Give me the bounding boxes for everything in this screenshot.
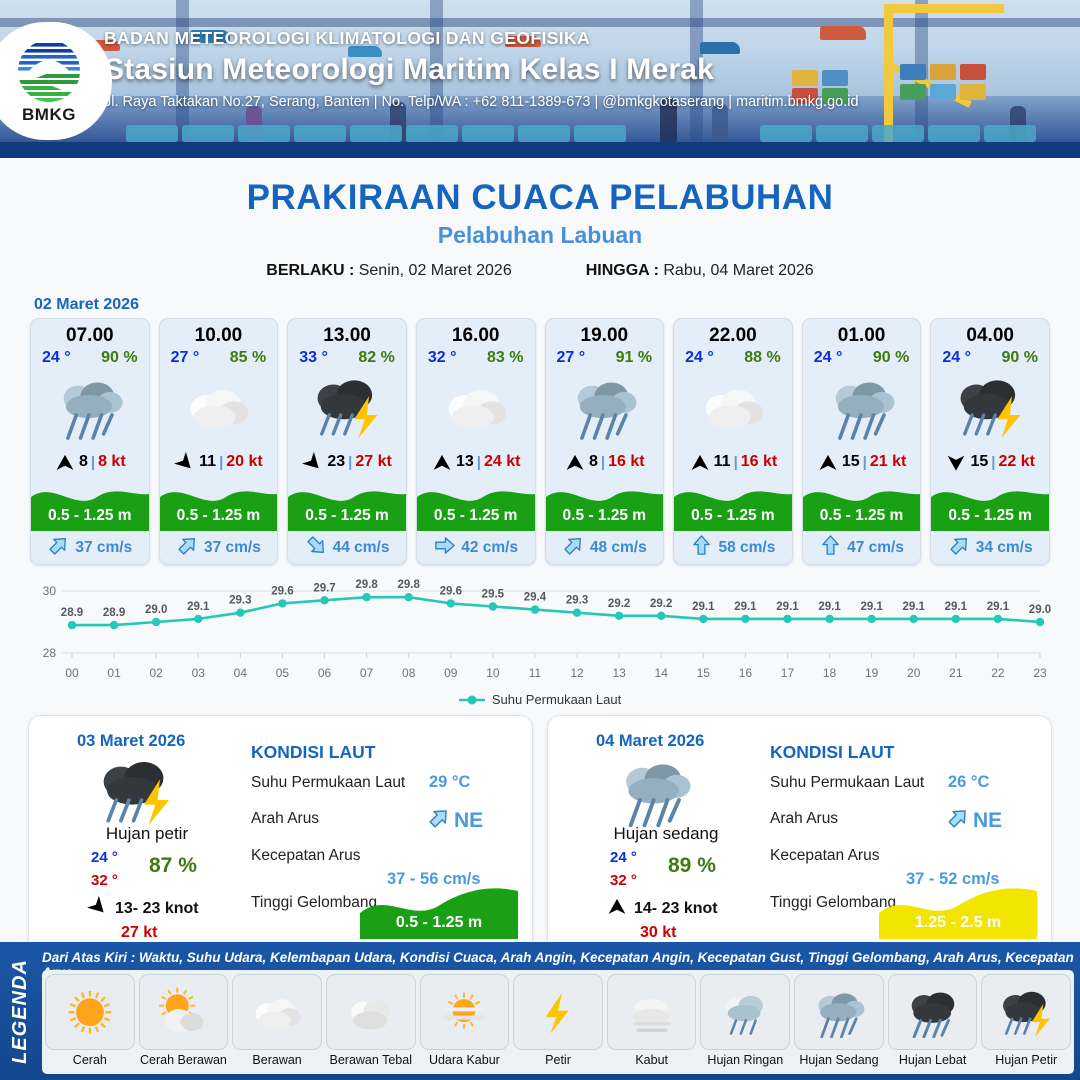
svg-text:28: 28	[43, 646, 57, 660]
svg-text:02: 02	[149, 666, 163, 680]
card-temperature: 27 °	[171, 349, 200, 367]
current-direction-arrow-icon	[948, 534, 971, 562]
sst-chart: 302828.90028.90129.00229.10329.30429.605…	[28, 579, 1052, 689]
svg-text:01: 01	[107, 666, 121, 680]
svg-text:06: 06	[318, 666, 332, 680]
legend-item: Udara Kabur	[420, 974, 510, 1070]
wind-direction-arrow-icon	[606, 898, 628, 921]
header-text-block: BADAN METEOROLOGI KLIMATOLOGI DAN GEOFIS…	[104, 28, 859, 110]
svg-text:29.2: 29.2	[650, 598, 672, 610]
card-humidity: 90 %	[873, 349, 909, 367]
weather-icon-berawan	[160, 367, 278, 447]
weather-icon-berawan	[674, 367, 792, 447]
card-time: 16.00	[417, 319, 535, 347]
card-wind-speed: 23	[327, 453, 345, 471]
day-date: 03 Maret 2026	[77, 732, 185, 751]
legend-icon-berawan	[232, 974, 322, 1050]
day-gust: 30 kt	[640, 924, 676, 942]
card-humidity: 82 %	[358, 349, 394, 367]
legend-icon-hujan-ringan	[700, 974, 790, 1050]
svg-text:29.0: 29.0	[145, 604, 167, 616]
card-time: 07.00	[31, 319, 149, 347]
valid-from-value: Senin, 02 Maret 2026	[359, 262, 512, 279]
legend-icon-cerah	[45, 974, 135, 1050]
wind-direction-arrow-icon	[689, 454, 711, 471]
day-humidity: 89 %	[668, 854, 716, 878]
legend-item-label: Cerah	[73, 1053, 107, 1067]
forecast-card: 01.00 24 ° 90 % 15 |	[802, 318, 922, 565]
svg-text:10: 10	[486, 666, 500, 680]
page-subtitle: Pelabuhan Labuan	[0, 222, 1080, 249]
svg-text:29.6: 29.6	[440, 585, 462, 597]
current-direction-arrow-icon	[427, 806, 451, 835]
svg-text:29.0: 29.0	[1029, 604, 1051, 616]
legend-item: Hujan Lebat	[888, 974, 978, 1070]
svg-text:08: 08	[402, 666, 416, 680]
card-wind-row: 23 | 27 kt	[288, 447, 406, 477]
svg-text:30: 30	[43, 584, 57, 598]
card-separator: |	[863, 454, 867, 471]
svg-text:11: 11	[529, 666, 542, 680]
validity-row: BERLAKU : Senin, 02 Maret 2026 HINGGA : …	[0, 262, 1080, 280]
wind-direction-arrow-icon	[54, 454, 76, 471]
card-current-speed: 44 cm/s	[333, 539, 390, 557]
wave-height-label: Tinggi Gelombang	[770, 894, 896, 912]
legend-side-title: LEGENDA	[4, 946, 36, 1076]
page-header: BMKG BADAN METEOROLOGI KLIMATOLOGI DAN G…	[0, 0, 1080, 158]
day-wave-height: 1.25 - 2.5 m	[879, 914, 1037, 932]
container-box	[960, 84, 986, 100]
legend-item-label: Kabut	[635, 1053, 668, 1067]
card-current-row: 47 cm/s	[803, 531, 921, 564]
card-separator: |	[991, 454, 995, 471]
page-title: PRAKIRAAN CUACA PELABUHAN	[0, 178, 1080, 218]
svg-text:15: 15	[697, 666, 711, 680]
card-temperature: 24 °	[942, 349, 971, 367]
day-condition: Hujan petir	[59, 824, 235, 844]
legend-icon-cerah-berawan	[139, 974, 229, 1050]
forecast-card: 22.00 24 ° 88 % 11 | 16 kt 0.5 - 1.25 m	[673, 318, 793, 565]
current-direction-label: Arah Arus	[770, 810, 838, 828]
svg-text:18: 18	[823, 666, 837, 680]
card-current-row: 42 cm/s	[417, 531, 535, 564]
weather-icon-hujan-sedang	[31, 367, 149, 447]
card-gust: 24 kt	[484, 453, 520, 471]
sea-conditions-title: KONDISI LAUT	[770, 742, 894, 763]
card-wave-block: 0.5 - 1.25 m	[31, 477, 149, 531]
legend-items-panel: Cerah Cerah Berawan Berawa	[42, 970, 1074, 1074]
svg-text:29.2: 29.2	[608, 598, 630, 610]
weather-icon-hujan-sedang	[610, 754, 700, 833]
svg-text:29.3: 29.3	[229, 595, 251, 607]
legend-item-label: Hujan Lebat	[899, 1053, 966, 1067]
card-current-speed: 47 cm/s	[847, 539, 904, 557]
day-temp-max: 32 °	[610, 872, 637, 889]
card-time: 01.00	[803, 319, 921, 347]
legend-icon-hujan-sedang	[794, 974, 884, 1050]
day-temp-min: 24 °	[91, 849, 118, 866]
weather-icon-hujan-petir	[931, 367, 1049, 447]
forecast-date-label: 02 Maret 2026	[34, 296, 1080, 314]
valid-from-label: BERLAKU :	[266, 262, 354, 279]
card-humidity: 85 %	[230, 349, 266, 367]
card-current-speed: 58 cm/s	[718, 539, 775, 557]
daily-summary-card: 03 Maret 2026 Hujan petir 24 ° 32 ° 87 %	[28, 715, 533, 958]
legend-item: Cerah	[45, 974, 135, 1070]
day-gust: 27 kt	[121, 924, 157, 942]
current-direction-arrow-icon	[562, 534, 585, 562]
day-humidity: 87 %	[149, 854, 197, 878]
svg-text:29.8: 29.8	[398, 579, 421, 591]
card-current-speed: 42 cm/s	[461, 539, 518, 557]
container-box	[900, 84, 926, 100]
container-box	[960, 64, 986, 80]
weather-icon-berawan	[417, 367, 535, 447]
card-separator: |	[601, 454, 605, 471]
current-direction-arrow-icon	[305, 534, 328, 562]
card-gust: 16 kt	[608, 453, 644, 471]
legend-item: Cerah Berawan	[139, 974, 229, 1070]
card-wave-block: 0.5 - 1.25 m	[288, 477, 406, 531]
card-wind-speed: 8	[589, 453, 598, 471]
card-wind-speed: 11	[714, 453, 731, 471]
valid-until-label: HINGGA :	[586, 262, 659, 279]
card-wind-row: 13 | 24 kt	[417, 447, 535, 477]
legend-icon-hujan-lebat	[888, 974, 978, 1050]
card-temperature: 27 °	[557, 349, 586, 367]
legend-item: Hujan Petir	[981, 974, 1071, 1070]
bmkg-logo-text: BMKG	[22, 105, 76, 125]
card-wind-row: 8 | 16 kt	[546, 447, 664, 477]
card-gust: 16 kt	[741, 453, 777, 471]
svg-text:07: 07	[360, 666, 374, 680]
current-speed-label: Kecepatan Arus	[251, 847, 360, 865]
card-humidity: 91 %	[616, 349, 652, 367]
wind-direction-arrow-icon	[564, 454, 586, 471]
card-wave-height: 0.5 - 1.25 m	[674, 507, 792, 525]
current-direction-value: NE	[427, 806, 483, 835]
valid-until-value: Rabu, 04 Maret 2026	[663, 262, 813, 279]
svg-text:28.9: 28.9	[61, 607, 83, 619]
card-wind-row: 15 | 22 kt	[931, 447, 1049, 477]
svg-text:09: 09	[444, 666, 458, 680]
current-direction-arrow-icon	[819, 534, 842, 562]
card-wave-height: 0.5 - 1.25 m	[803, 507, 921, 525]
card-wave-height: 0.5 - 1.25 m	[931, 507, 1049, 525]
legend-bar: LEGENDA Dari Atas Kiri : Waktu, Suhu Uda…	[0, 942, 1080, 1080]
card-wind-row: 15 | 21 kt	[803, 447, 921, 477]
card-wind-speed: 11	[199, 453, 216, 471]
weather-icon-hujan-sedang	[803, 367, 921, 447]
svg-text:20: 20	[907, 666, 921, 680]
sea-conditions-title: KONDISI LAUT	[251, 742, 375, 763]
card-wave-block: 0.5 - 1.25 m	[674, 477, 792, 531]
container-box	[930, 84, 956, 100]
card-wave-block: 0.5 - 1.25 m	[931, 477, 1049, 531]
svg-text:17: 17	[781, 666, 795, 680]
card-wind-speed: 8	[79, 453, 88, 471]
day-wave-block: 0.5 - 1.25 m	[360, 883, 518, 939]
card-wave-height: 0.5 - 1.25 m	[31, 507, 149, 525]
current-direction-arrow-icon	[690, 534, 713, 562]
sst-label: Suhu Permukaan Laut	[251, 774, 405, 792]
card-temperature: 33 °	[299, 349, 328, 367]
svg-text:29.1: 29.1	[776, 601, 799, 613]
wind-direction-arrow-icon	[174, 454, 196, 471]
card-wave-block: 0.5 - 1.25 m	[546, 477, 664, 531]
legend-item: Berawan	[232, 974, 322, 1070]
contact-info: Jl. Raya Taktakan No.27, Serang, Banten …	[104, 94, 859, 110]
weather-icon-hujan-petir	[288, 367, 406, 447]
day-wind-range: 13- 23 knot	[115, 900, 199, 918]
card-gust: 8 kt	[98, 453, 126, 471]
weather-icon-hujan-petir	[91, 754, 181, 833]
card-wave-block: 0.5 - 1.25 m	[417, 477, 535, 531]
card-temperature: 32 °	[428, 349, 457, 367]
legend-item-label: Hujan Sedang	[799, 1053, 878, 1067]
card-current-row: 58 cm/s	[674, 531, 792, 564]
card-humidity: 90 %	[101, 349, 137, 367]
forecast-card: 19.00 27 ° 91 % 8 |	[545, 318, 665, 565]
sst-label: Suhu Permukaan Laut	[770, 774, 924, 792]
svg-text:04: 04	[234, 666, 248, 680]
day-wind-row: 14- 23 knot	[606, 898, 718, 921]
svg-text:03: 03	[192, 666, 206, 680]
legend-item: Hujan Sedang	[794, 974, 884, 1070]
legend-item-label: Cerah Berawan	[140, 1053, 227, 1067]
current-direction-arrow-icon	[946, 806, 970, 835]
svg-text:14: 14	[655, 666, 669, 680]
legend-item-label: Berawan Tebal	[330, 1053, 412, 1067]
wave-height-label: Tinggi Gelombang	[251, 894, 377, 912]
svg-text:29.7: 29.7	[313, 582, 335, 594]
forecast-card: 07.00 24 ° 90 % 8 |	[30, 318, 150, 565]
card-humidity: 83 %	[487, 349, 523, 367]
legend-icon-kabut	[607, 974, 697, 1050]
terminal-seats	[0, 120, 1080, 142]
card-current-row: 37 cm/s	[160, 531, 278, 564]
svg-text:29.1: 29.1	[903, 601, 926, 613]
card-temperature: 24 °	[685, 349, 714, 367]
forecast-card: 10.00 27 ° 85 % 11 | 20 kt 0.5 - 1.25 m	[159, 318, 279, 565]
svg-text:29.1: 29.1	[187, 601, 210, 613]
day-wind-range: 14- 23 knot	[634, 900, 718, 918]
chart-legend: Suhu Permukaan Laut	[0, 692, 1080, 707]
card-gust: 22 kt	[998, 453, 1034, 471]
card-wind-row: 8 | 8 kt	[31, 447, 149, 477]
svg-text:29.1: 29.1	[734, 601, 757, 613]
wind-direction-arrow-icon	[817, 454, 839, 471]
legend-icon-udara-kabur	[420, 974, 510, 1050]
card-wind-speed: 15	[842, 453, 860, 471]
daily-summary-row: 03 Maret 2026 Hujan petir 24 ° 32 ° 87 %	[0, 707, 1080, 958]
svg-text:28.9: 28.9	[103, 607, 125, 619]
svg-text:29.1: 29.1	[987, 601, 1010, 613]
card-wind-row: 11 | 20 kt	[160, 447, 278, 477]
day-temp-min: 24 °	[610, 849, 637, 866]
card-gust: 20 kt	[226, 453, 262, 471]
svg-text:21: 21	[949, 666, 963, 680]
card-wind-speed: 15	[970, 453, 988, 471]
card-separator: |	[477, 454, 481, 471]
card-current-speed: 37 cm/s	[75, 539, 132, 557]
chart-legend-swatch	[459, 694, 485, 706]
forecast-card: 13.00 33 ° 82 % 23 |	[287, 318, 407, 565]
current-direction-arrow-icon	[47, 534, 70, 562]
card-wind-speed: 13	[456, 453, 474, 471]
card-current-speed: 48 cm/s	[590, 539, 647, 557]
card-separator: |	[219, 454, 223, 471]
svg-text:12: 12	[570, 666, 584, 680]
legend-item-label: Hujan Petir	[995, 1053, 1057, 1067]
card-time: 22.00	[674, 319, 792, 347]
card-current-speed: 37 cm/s	[204, 539, 261, 557]
day-wave-block: 1.25 - 2.5 m	[879, 883, 1037, 939]
card-time: 10.00	[160, 319, 278, 347]
svg-text:29.1: 29.1	[692, 601, 715, 613]
container-box	[930, 64, 956, 80]
forecast-card: 16.00 32 ° 83 % 13 | 24 kt 0.5 - 1.25 m	[416, 318, 536, 565]
card-time: 19.00	[546, 319, 664, 347]
current-direction-label: Arah Arus	[251, 810, 319, 828]
card-wave-height: 0.5 - 1.25 m	[160, 507, 278, 525]
card-current-row: 34 cm/s	[931, 531, 1049, 564]
card-humidity: 88 %	[744, 349, 780, 367]
svg-text:16: 16	[739, 666, 753, 680]
svg-text:29.1: 29.1	[860, 601, 883, 613]
card-time: 04.00	[931, 319, 1049, 347]
legend-item: Hujan Ringan	[700, 974, 790, 1070]
chart-legend-label: Suhu Permukaan Laut	[492, 692, 621, 707]
current-speed-label: Kecepatan Arus	[770, 847, 879, 865]
card-gust: 27 kt	[355, 453, 391, 471]
card-separator: |	[348, 454, 352, 471]
card-wave-block: 0.5 - 1.25 m	[160, 477, 278, 531]
card-wave-height: 0.5 - 1.25 m	[288, 507, 406, 525]
svg-text:00: 00	[65, 666, 79, 680]
svg-text:29.8: 29.8	[355, 579, 378, 591]
wind-direction-arrow-icon	[87, 898, 109, 921]
header-bottom-band	[0, 142, 1080, 158]
weather-icon-hujan-sedang	[546, 367, 664, 447]
svg-text:29.5: 29.5	[482, 589, 505, 601]
svg-text:29.3: 29.3	[566, 595, 588, 607]
sst-value: 26 °C	[948, 773, 989, 792]
svg-text:29.6: 29.6	[271, 585, 293, 597]
svg-text:13: 13	[612, 666, 626, 680]
day-date: 04 Maret 2026	[596, 732, 704, 751]
legend-item: Kabut	[607, 974, 697, 1070]
sst-value: 29 °C	[429, 773, 470, 792]
wind-direction-arrow-icon	[945, 454, 967, 471]
svg-text:22: 22	[991, 666, 1005, 680]
svg-text:19: 19	[865, 666, 879, 680]
container-box	[900, 64, 926, 80]
current-direction-arrow-icon	[433, 534, 456, 562]
day-wave-height: 0.5 - 1.25 m	[360, 914, 518, 932]
agency-name: BADAN METEOROLOGI KLIMATOLOGI DAN GEOFIS…	[104, 28, 859, 49]
legend-icon-hujan-petir	[981, 974, 1071, 1050]
day-temp-max: 32 °	[91, 872, 118, 889]
card-humidity: 90 %	[1002, 349, 1038, 367]
svg-text:29.4: 29.4	[524, 592, 547, 604]
card-gust: 21 kt	[870, 453, 906, 471]
card-current-speed: 34 cm/s	[976, 539, 1033, 557]
svg-text:05: 05	[276, 666, 290, 680]
legend-item-label: Hujan Ringan	[707, 1053, 783, 1067]
card-temperature: 24 °	[42, 349, 71, 367]
current-direction-arrow-icon	[176, 534, 199, 562]
legend-item-label: Udara Kabur	[429, 1053, 500, 1067]
svg-text:29.1: 29.1	[945, 601, 968, 613]
card-current-row: 44 cm/s	[288, 531, 406, 564]
card-current-row: 37 cm/s	[31, 531, 149, 564]
card-wave-block: 0.5 - 1.25 m	[803, 477, 921, 531]
card-separator: |	[91, 454, 95, 471]
card-temperature: 24 °	[814, 349, 843, 367]
station-name: Stasiun Meteorologi Maritim Kelas I Mera…	[104, 53, 859, 87]
daily-summary-card: 04 Maret 2026 Hujan sedang 24 ° 32 ° 89 …	[547, 715, 1052, 958]
card-wave-height: 0.5 - 1.25 m	[546, 507, 664, 525]
legend-item: Petir	[513, 974, 603, 1070]
legend-item-label: Petir	[545, 1053, 571, 1067]
day-condition: Hujan sedang	[578, 824, 754, 844]
current-direction-value: NE	[946, 806, 1002, 835]
legend-item: Berawan Tebal	[326, 974, 416, 1070]
card-wind-row: 11 | 16 kt	[674, 447, 792, 477]
card-separator: |	[734, 454, 738, 471]
svg-text:23: 23	[1033, 666, 1047, 680]
forecast-card: 04.00 24 ° 90 % 15 |	[930, 318, 1050, 565]
legend-icon-berawan-tebal	[326, 974, 416, 1050]
bmkg-logo-mark	[16, 38, 82, 104]
day-wind-row: 13- 23 knot	[87, 898, 199, 921]
forecast-card-row: 07.00 24 ° 90 % 8 |	[0, 318, 1080, 565]
legend-icon-petir	[513, 974, 603, 1050]
card-wave-height: 0.5 - 1.25 m	[417, 507, 535, 525]
wind-direction-arrow-icon	[302, 454, 324, 471]
wind-direction-arrow-icon	[431, 454, 453, 471]
legend-item-label: Berawan	[252, 1053, 301, 1067]
svg-text:29.1: 29.1	[818, 601, 841, 613]
card-time: 13.00	[288, 319, 406, 347]
card-current-row: 48 cm/s	[546, 531, 664, 564]
